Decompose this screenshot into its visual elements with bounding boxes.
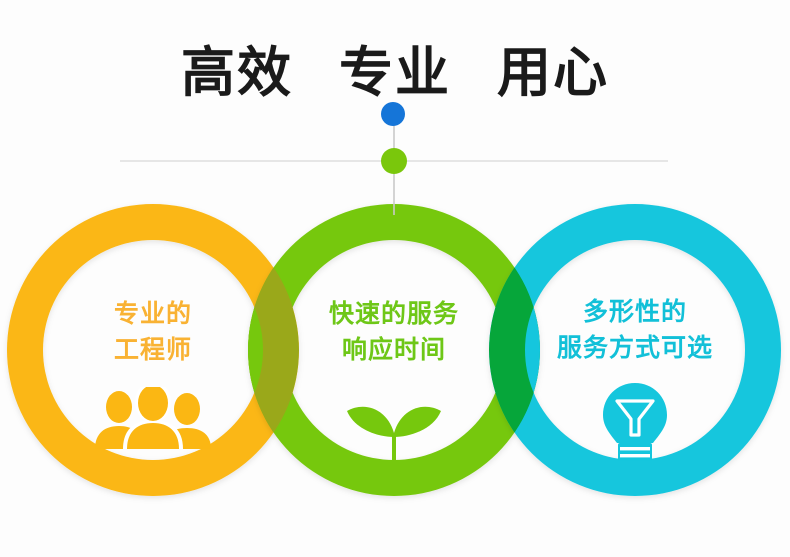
- card-engineers-title-line-2: 工程师: [44, 333, 262, 369]
- card-response-time-title-line-1: 快速的服务: [285, 297, 503, 333]
- people-icon: [44, 387, 262, 454]
- card-service-modes-title-line-1: 多形性的: [526, 295, 744, 331]
- card-engineers-title: 专业的 工程师: [44, 297, 262, 368]
- venn-diagram: [0, 0, 790, 557]
- card-service-modes-title: 多形性的 服务方式可选: [526, 295, 744, 366]
- sprout-icon: [285, 389, 503, 466]
- card-service-modes[interactable]: 多形性的 服务方式可选: [526, 295, 744, 366]
- card-response-time[interactable]: 快速的服务 响应时间: [285, 297, 503, 368]
- card-service-modes-title-line-2: 服务方式可选: [526, 331, 744, 367]
- card-engineers[interactable]: 专业的 工程师: [44, 297, 262, 368]
- card-response-time-title-line-2: 响应时间: [285, 333, 503, 369]
- lightbulb-icon: [526, 381, 744, 472]
- card-engineers-title-line-1: 专业的: [44, 297, 262, 333]
- infographic-canvas: 高效专业用心: [0, 0, 790, 557]
- card-response-time-title: 快速的服务 响应时间: [285, 297, 503, 368]
